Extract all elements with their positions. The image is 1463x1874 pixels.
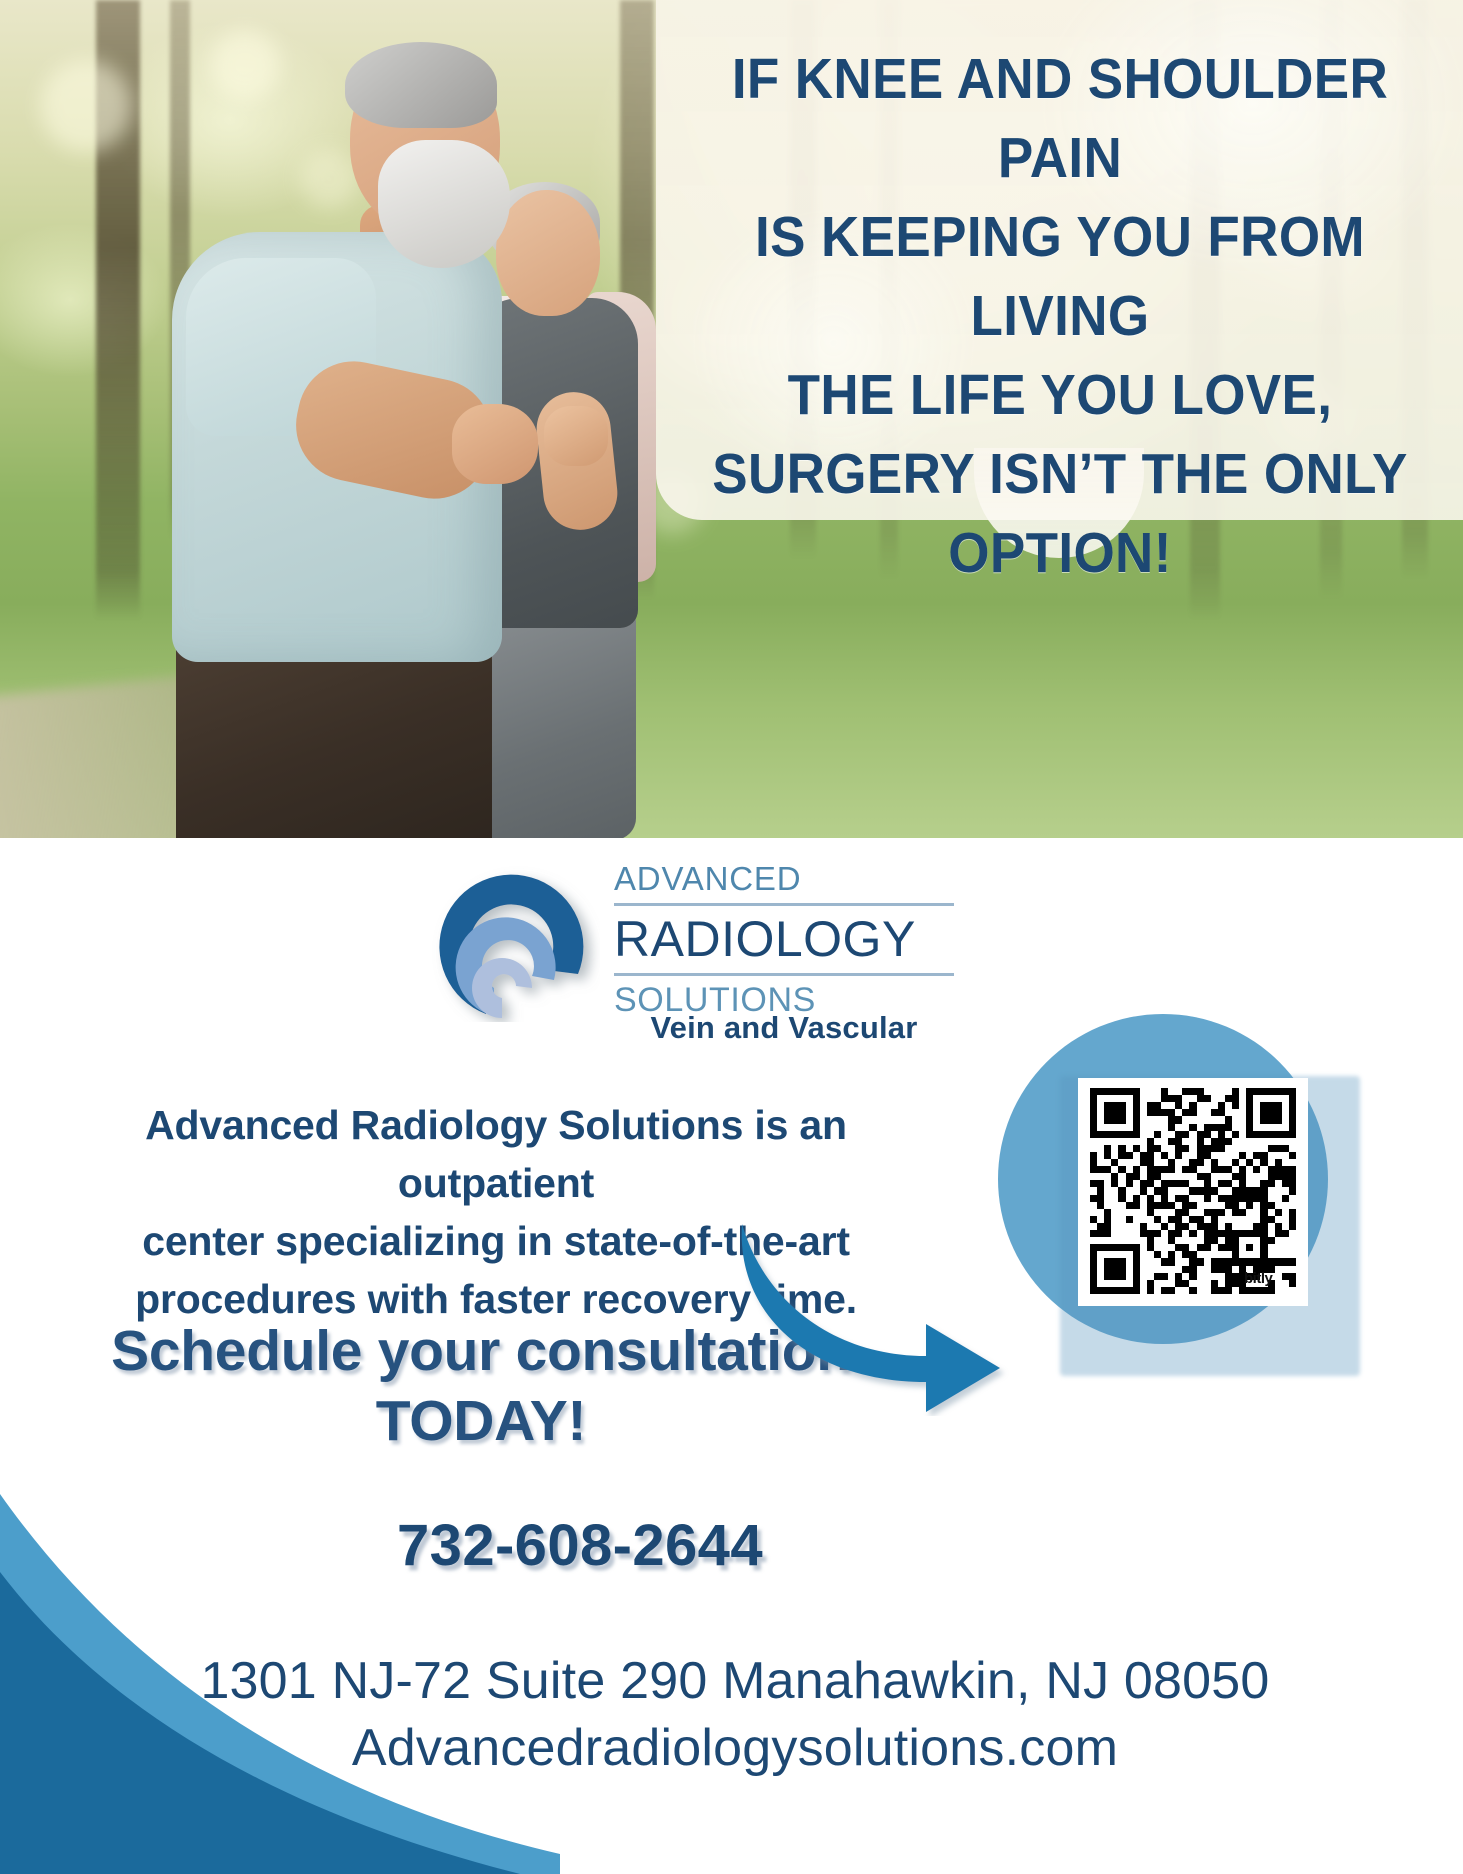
qr-bitly-label: bitly xyxy=(1244,1270,1272,1287)
headline-line-5: OPTION! xyxy=(699,514,1421,593)
logo-tagline: Vein and Vascular xyxy=(614,1010,954,1046)
hero-headline: IF KNEE AND SHOULDER PAIN IS KEEPING YOU… xyxy=(699,40,1421,593)
info-section: ADVANCED RADIOLOGY SOLUTIONS Vein and Va… xyxy=(0,838,1463,1874)
headline-line-2: IS KEEPING YOU FROM LIVING xyxy=(699,198,1421,356)
bokeh-light xyxy=(40,60,132,152)
company-logo: ADVANCED RADIOLOGY SOLUTIONS Vein and Va… xyxy=(428,858,1038,1038)
logo-wordmark: ADVANCED RADIOLOGY SOLUTIONS xyxy=(614,858,954,1022)
flyer-page: IF KNEE AND SHOULDER PAIN IS KEEPING YOU… xyxy=(0,0,1463,1874)
phone-number[interactable]: 732-608-2644 xyxy=(150,1512,1010,1579)
curved-arrow-icon xyxy=(700,1216,1020,1416)
street-address: 1301 NJ-72 Suite 290 Manahawkin, NJ 0805… xyxy=(100,1648,1370,1715)
website-url[interactable]: Advancedradiologysolutions.com xyxy=(100,1715,1370,1782)
logo-divider-top xyxy=(614,903,954,906)
headline-line-4: SURGERY ISN’T THE ONLY xyxy=(699,435,1421,514)
logo-advanced-text: ADVANCED xyxy=(614,858,954,900)
hero-section: IF KNEE AND SHOULDER PAIN IS KEEPING YOU… xyxy=(0,0,1463,838)
headline-line-3: THE LIFE YOU LOVE, xyxy=(699,356,1421,435)
qr-code[interactable] xyxy=(1090,1088,1296,1294)
description-line-1: Advanced Radiology Solutions is an outpa… xyxy=(46,1096,946,1212)
headline-line-1: IF KNEE AND SHOULDER PAIN xyxy=(699,40,1421,198)
contact-block: 1301 NJ-72 Suite 290 Manahawkin, NJ 0805… xyxy=(100,1648,1370,1782)
logo-radiology-text: RADIOLOGY xyxy=(614,908,954,970)
bokeh-light xyxy=(210,30,280,100)
wave-arcs-logo-icon xyxy=(428,864,600,1022)
logo-divider-bottom xyxy=(614,973,954,976)
bokeh-light xyxy=(300,150,358,208)
